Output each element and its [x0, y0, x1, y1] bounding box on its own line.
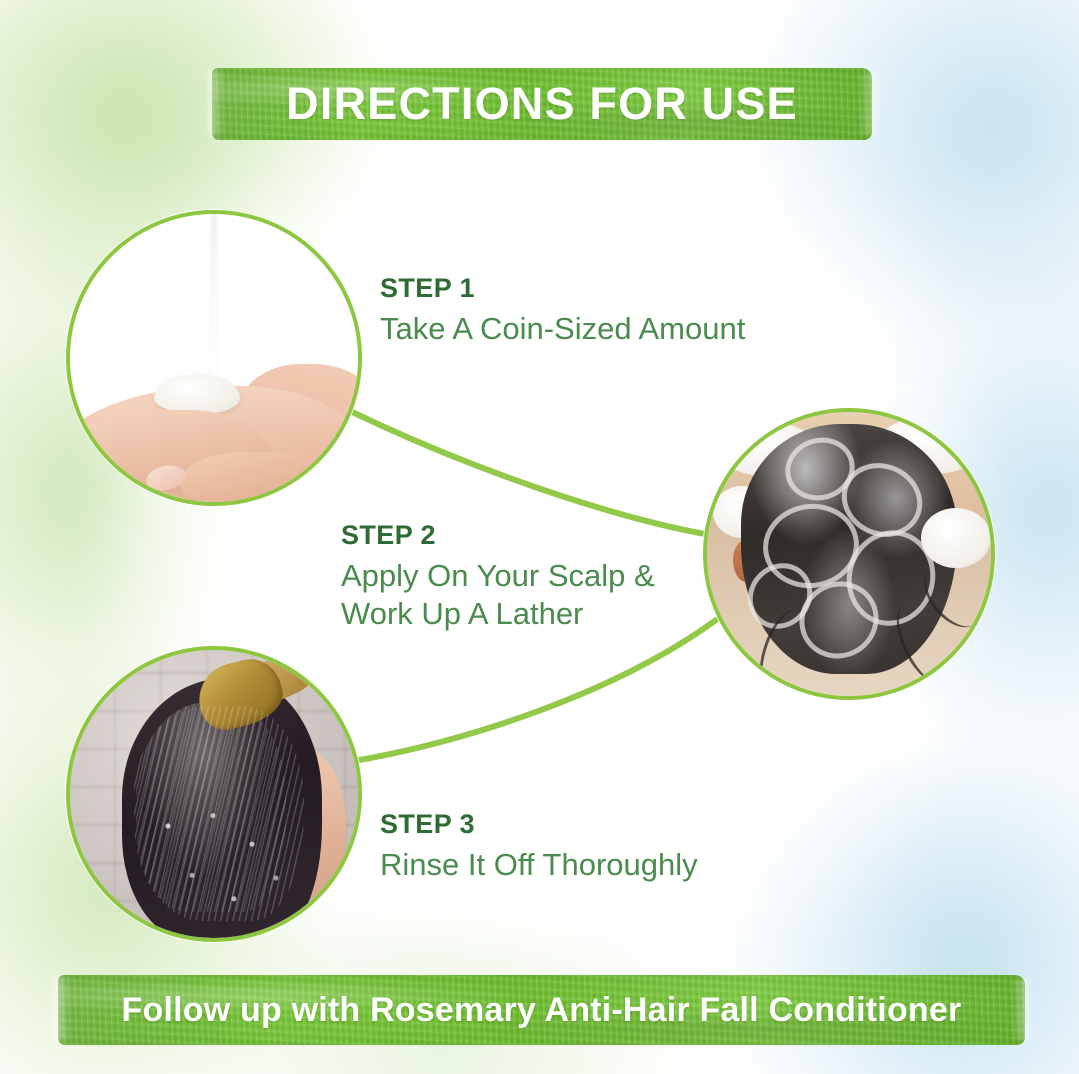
lathered-hair-image: [707, 412, 991, 696]
water-droplets: [150, 800, 300, 930]
product-drip: [212, 214, 217, 395]
connector-step1-to-step2: [340, 406, 716, 536]
footer-banner: Follow up with Rosemary Anti-Hair Fall C…: [58, 975, 1025, 1045]
step-1-description: Take A Coin-Sized Amount: [380, 310, 745, 348]
step-1-photo: [66, 210, 362, 506]
step-2-title: STEP 2: [341, 521, 655, 551]
step-3-title: STEP 3: [380, 810, 698, 840]
step-3-photo: [66, 646, 362, 942]
rinsing-hair-image: [70, 650, 358, 938]
step-2-text-block: STEP 2 Apply On Your Scalp & Work Up A L…: [341, 521, 655, 632]
step-3-description: Rinse It Off Thoroughly: [380, 846, 698, 884]
title-banner: DIRECTIONS FOR USE: [212, 68, 872, 140]
page-title: DIRECTIONS FOR USE: [286, 78, 798, 130]
step-1-text-block: STEP 1 Take A Coin-Sized Amount: [380, 274, 745, 348]
step-3-text-block: STEP 3 Rinse It Off Thoroughly: [380, 810, 698, 884]
thumb-shape: [180, 452, 330, 502]
step-1-title: STEP 1: [380, 274, 745, 304]
hand-with-product-image: [70, 214, 358, 502]
product-blob: [154, 374, 240, 414]
foam-patch: [921, 508, 991, 568]
wash-top-right-blue: [749, 0, 1079, 320]
step-2-photo: [703, 408, 995, 700]
connector-step3-to-step2: [348, 620, 716, 762]
step-2-description: Apply On Your Scalp & Work Up A Lather: [341, 557, 655, 633]
directions-for-use-infographic: DIRECTIONS FOR USE STEP 1 Take A Coin-Si…: [0, 0, 1079, 1074]
footer-message: Follow up with Rosemary Anti-Hair Fall C…: [122, 991, 962, 1030]
